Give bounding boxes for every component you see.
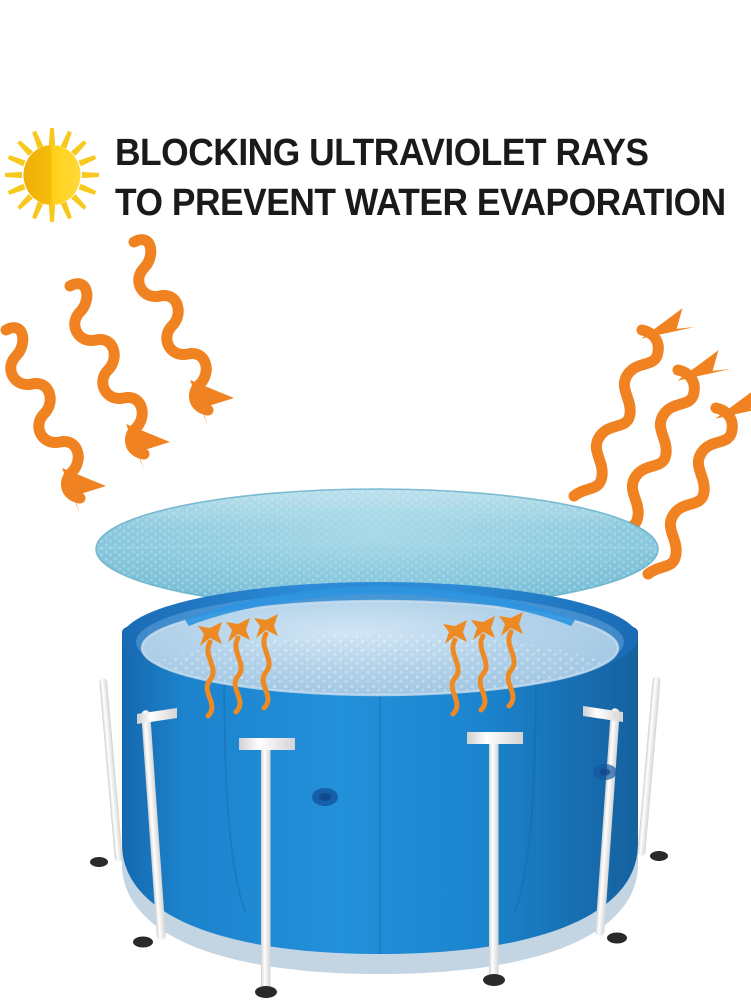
headline-line-2: TO PREVENT WATER EVAPORATION [115, 178, 701, 228]
water-evaporation-arrows-left [198, 620, 288, 718]
sun-icon [0, 114, 118, 236]
evaporation-squiggle-3 [263, 634, 269, 708]
above-ground-frame-pool [85, 612, 675, 997]
evaporation-squiggle-5 [480, 636, 486, 710]
evaporation-squiggle-6 [508, 632, 514, 706]
evaporation-squiggle-4 [452, 640, 458, 714]
headline-line-1: BLOCKING ULTRAVIOLET RAYS [115, 128, 701, 178]
pool-leg-1 [90, 678, 123, 867]
evaporation-squiggle-1 [207, 642, 213, 716]
evaporation-squiggle-2 [235, 638, 241, 712]
page-title: BLOCKING ULTRAVIOLET RAYS TO PREVENT WAT… [115, 128, 701, 228]
infographic-canvas: BLOCKING ULTRAVIOLET RAYS TO PREVENT WAT… [0, 0, 751, 1001]
pool-leg-6 [637, 676, 668, 861]
water-evaporation-arrows-right [443, 618, 533, 716]
sun-core [24, 145, 81, 205]
